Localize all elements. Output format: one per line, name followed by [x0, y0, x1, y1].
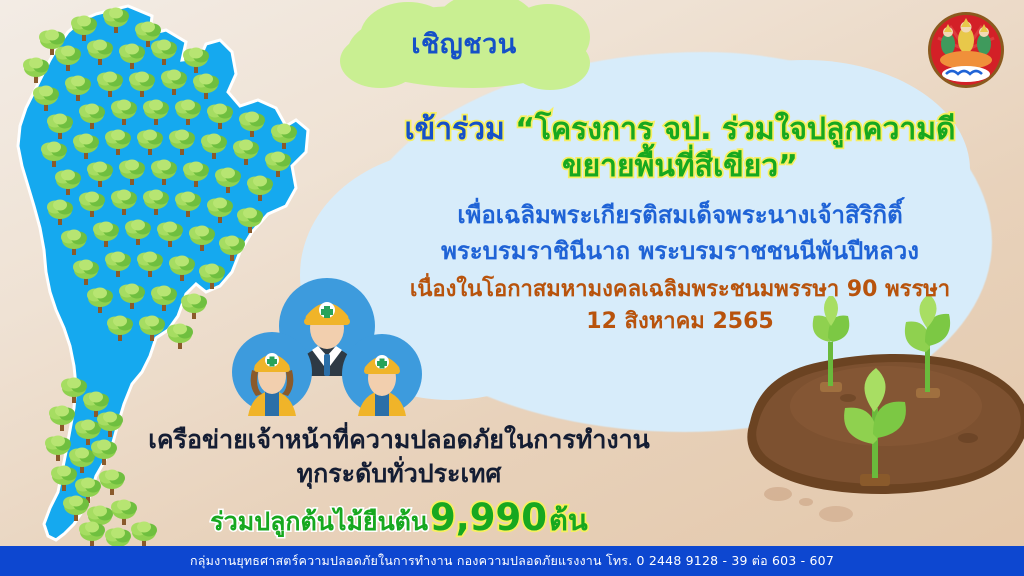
poster-canvas: เชิญชวน เข้าร่วม “โครงการ จป. ร่วมใจปลูก… [0, 0, 1024, 576]
network-line-2: ทุกระดับทั่วประเทศ [118, 458, 680, 490]
headline-row-1: เข้าร่วม “โครงการ จป. ร่วมใจปลูกความดี [368, 112, 992, 147]
occasion-line-1: เนื่องในโอกาสมหามงคลเฉลิมพระชนมพรรษา 90 … [368, 276, 992, 305]
network-line-1: เครือข่ายเจ้าหน้าที่ความปลอดภัยในการทำงา… [118, 424, 680, 456]
invite-label: เชิญชวน [348, 22, 580, 65]
headline-join-word: เข้าร่วม [404, 112, 504, 147]
ministry-of-labour-seal [920, 6, 1012, 98]
headline-project-line-2: ขยายพื้นที่สีเขียว [562, 149, 778, 184]
headline-block: เข้าร่วม “โครงการ จป. ร่วมใจปลูกความดี ข… [368, 112, 992, 185]
footer-bar: กลุ่มงานยุทธศาสตร์ความปลอดภัยในการทำงาน … [0, 546, 1024, 576]
headline-quote-open: “ [515, 112, 535, 147]
headline-quote-close: ” [778, 149, 798, 184]
dedication-line-2: พระบรมราชินีนาถ พระบรมราชชนนีพันปีหลวง [368, 236, 992, 267]
headline-row-2: ขยายพื้นที่สีเขียว” [368, 149, 992, 184]
pledge-line: ร่วมปลูกต้นไม้ยืนต้น9,990ต้น [118, 496, 680, 543]
occasion-date: 12 สิงหาคม 2565 [368, 308, 992, 337]
emblem-svg [920, 6, 1012, 98]
pledge-text: ร่วมปลูกต้นไม้ยืนต้น [210, 507, 428, 536]
pledge-unit: ต้น [549, 503, 588, 537]
pledge-count: 9,990 [430, 496, 547, 539]
dedication-line-1: เพื่อเฉลิมพระเกียรติสมเด็จพระนางเจ้าสิริ… [368, 200, 992, 231]
footer-contact-text: กลุ่มงานยุทธศาสตร์ความปลอดภัยในการทำงาน … [190, 551, 834, 571]
headline-project-line-1: โครงการ จป. ร่วมใจปลูกความดี [535, 112, 956, 147]
